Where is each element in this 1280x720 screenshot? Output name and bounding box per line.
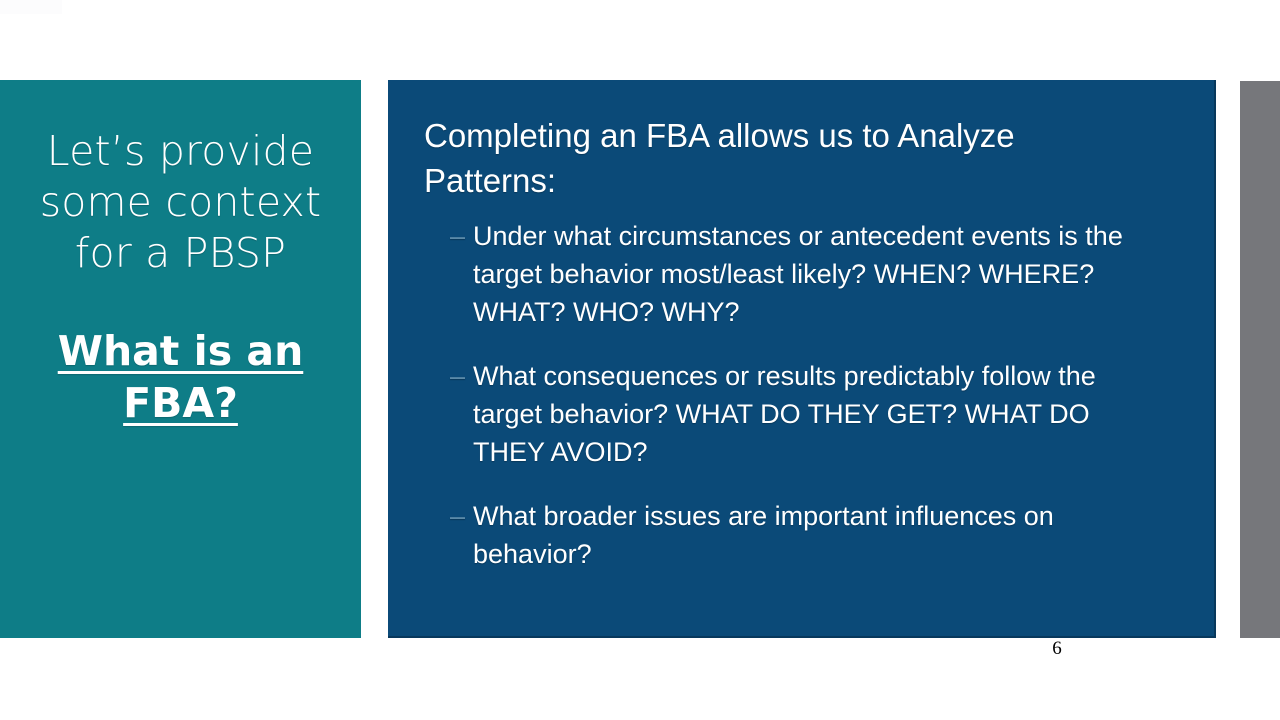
bullet-dash-icon: – [450, 217, 463, 255]
bullet-item-text: What broader issues are important influe… [473, 501, 1054, 569]
bullet-item: – What broader issues are important infl… [450, 497, 1145, 573]
page-number: 6 [1040, 638, 1074, 660]
bullet-item-text: What consequences or results predictably… [473, 361, 1096, 467]
slide-canvas: Let’s provide some context for a PBSP Wh… [0, 0, 1280, 720]
corner-artifact [0, 0, 62, 14]
content-panel: Completing an FBA allows us to Analyze P… [388, 80, 1216, 638]
bullet-list: – Under what circumstances or antecedent… [424, 217, 1192, 573]
bullet-item: – Under what circumstances or antecedent… [450, 217, 1145, 331]
right-edge-bar [1240, 81, 1280, 638]
content-heading: Completing an FBA allows us to Analyze P… [424, 113, 1124, 203]
title-panel-emphasis-text: What is an FBA? [31, 325, 331, 429]
title-panel: Let’s provide some context for a PBSP Wh… [0, 80, 361, 638]
bullet-dash-icon: – [450, 497, 463, 535]
bullet-item-text: Under what circumstances or antecedent e… [473, 221, 1123, 327]
bullet-item: – What consequences or results predictab… [450, 357, 1145, 471]
title-panel-lead-text: Let’s provide some context for a PBSP [31, 126, 331, 279]
bullet-dash-icon: – [450, 357, 463, 395]
